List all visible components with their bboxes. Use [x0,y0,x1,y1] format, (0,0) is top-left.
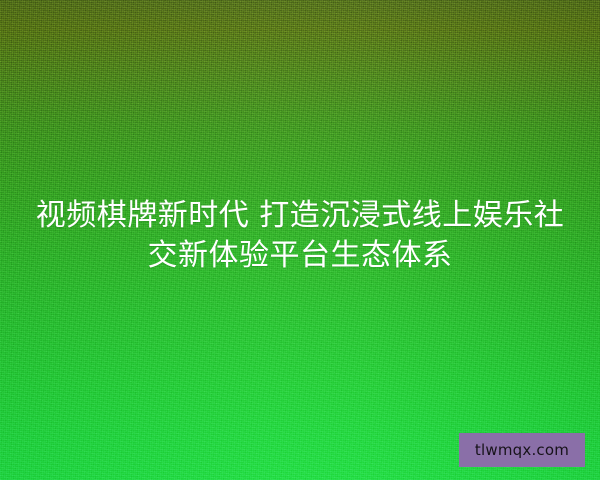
watermark-badge: tlwmqx.com [459,433,585,467]
watermark-label: tlwmqx.com [475,443,569,458]
banner-headline: 视频棋牌新时代 打造沉浸式线上娱乐社交新体验平台生态体系 [0,196,600,276]
promo-banner: 视频棋牌新时代 打造沉浸式线上娱乐社交新体验平台生态体系 tlwmqx.com [0,0,600,480]
